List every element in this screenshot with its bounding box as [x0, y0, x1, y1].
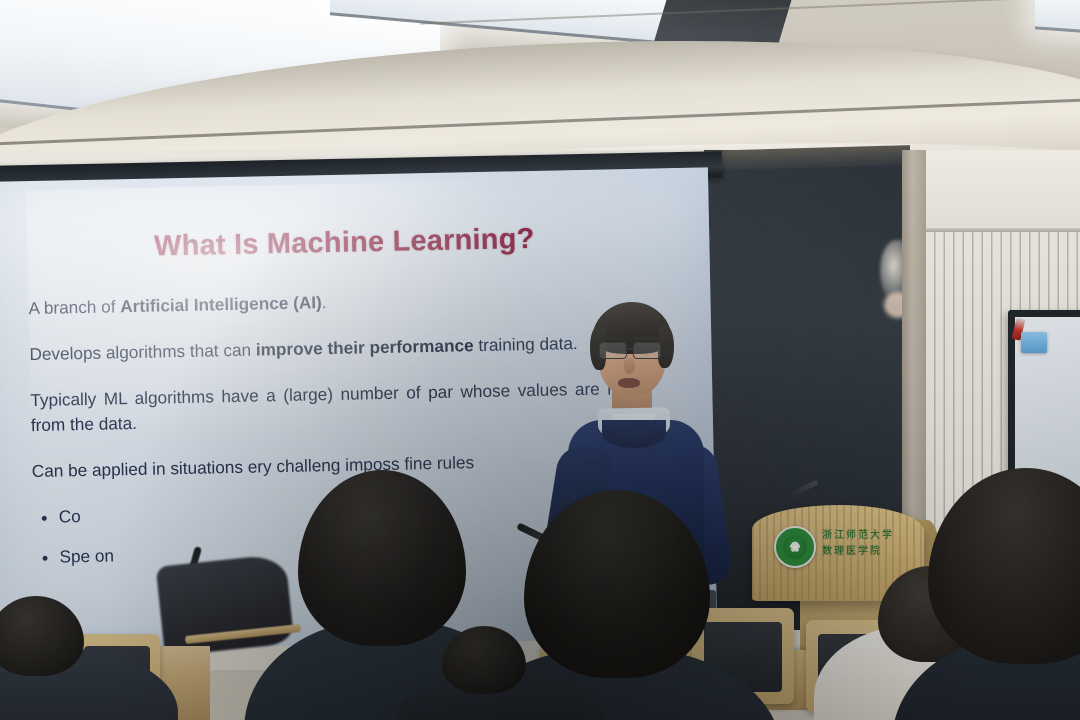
audience-member-6: [420, 626, 590, 720]
audience-head: [298, 470, 466, 646]
audience-head: [928, 468, 1080, 664]
lecture-hall-photo: What Is Machine Learning? A branch of Ar…: [0, 0, 1080, 720]
presenter-brow-left: [600, 337, 624, 340]
university-name-line2: 数理医学院: [822, 544, 912, 560]
slide-title: What Is Machine Learning?: [7, 220, 682, 267]
eyeglass-lens-right: [633, 342, 661, 359]
presenter-mouth: [618, 378, 640, 388]
presenter-nose: [624, 358, 635, 374]
university-name-text: 浙江师范大学 数理医学院: [822, 528, 912, 559]
audience-head: [0, 596, 84, 676]
audience-member-3: [912, 468, 1080, 720]
wall-above-slats: [926, 150, 1080, 232]
presenter-sweater-neckline: [602, 420, 666, 448]
blue-eraser-icon[interactable]: [1021, 332, 1047, 353]
university-logo-glyph: ✿: [790, 541, 801, 554]
audience-head: [442, 626, 526, 694]
university-name-line1: 浙江师范大学: [822, 528, 912, 544]
university-logo-inner: ✿: [783, 535, 807, 559]
eyeglasses-icon: [599, 342, 665, 357]
eyeglass-bridge: [625, 348, 633, 350]
university-logo-icon: ✿: [774, 526, 816, 568]
audience-member-5: [0, 596, 168, 720]
presenter-brow-right: [634, 337, 658, 340]
eyeglass-lens-left: [599, 342, 627, 359]
